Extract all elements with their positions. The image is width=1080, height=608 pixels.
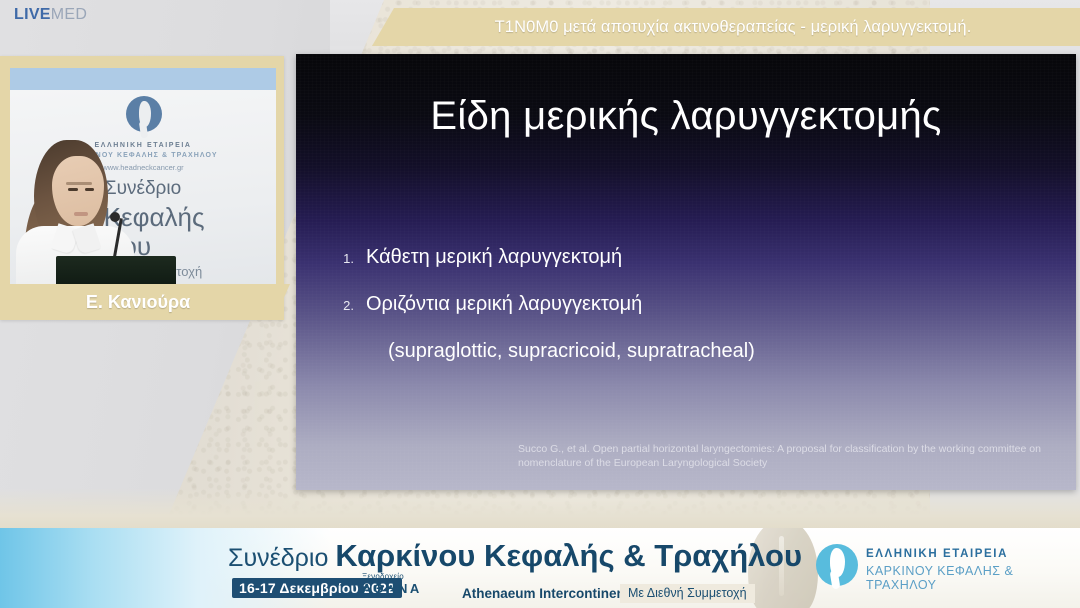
- society-name-line1: ΕΛΛΗΝΙΚΗ ΕΤΑΙΡΕΙΑ: [866, 548, 1008, 560]
- background-bottom-fill: [0, 488, 1080, 528]
- speaker-video-feed[interactable]: ΕΛΛΗΝΙΚΗ ΕΤΑΙΡΕΙΑ ΚΑΡΚΙΝΟΥ ΚΕΦΑΛΗΣ & ΤΡΑ…: [10, 68, 276, 284]
- bullet-text: Οριζόντια μερική λαρυγγεκτομή: [366, 293, 642, 316]
- conference-international-badge: Με Διεθνή Συμμετοχή: [620, 584, 755, 603]
- video-player-stage: LIVEMED T1N0M0 μετά αποτυχία ακτινοθεραπ…: [0, 0, 1080, 608]
- backdrop-blue-bar: [10, 68, 276, 90]
- conference-hotel-label: Ξενοδοχείο: [362, 572, 422, 581]
- conference-title-prefix: Συνέδριο: [228, 544, 335, 572]
- backdrop-society-logo-icon: [120, 96, 166, 140]
- society-logo-icon: [812, 540, 858, 586]
- livemed-logo-med: MED: [51, 6, 87, 23]
- speaker-name-banner: Ε. Κανιούρα: [0, 284, 290, 320]
- conference-hotel: Ξενοδοχείο ΑΘΗΝΑ: [362, 572, 422, 596]
- society-name-line2: ΚΑΡΚΙΝΟΥ ΚΕΦΑΛΗΣ & ΤΡΑΧΗΛΟΥ: [866, 564, 1080, 592]
- conference-hotel-city: ΑΘΗΝΑ: [362, 581, 422, 596]
- slide-title: Είδη μερικής λαρυγγεκτομής: [296, 94, 1076, 139]
- livemed-logo-live: LIVE: [14, 6, 51, 23]
- presentation-slide[interactable]: Είδη μερικής λαρυγγεκτομής 1. Κάθετη μερ…: [296, 54, 1076, 490]
- slide-bullet-item: 1. Κάθετη μερική λαρυγγεκτομή: [330, 246, 1030, 269]
- bullet-text: Κάθετη μερική λαρυγγεκτομή: [366, 246, 622, 269]
- bullet-number: 2.: [330, 298, 366, 313]
- slide-bullet-item: 2. Οριζόντια μερική λαρυγγεκτομή: [330, 293, 1030, 316]
- conference-title: Συνέδριο Καρκίνου Κεφαλής & Τραχήλου: [228, 538, 802, 574]
- bullet-number: 1.: [330, 251, 366, 266]
- talk-title-banner: T1N0M0 μετά αποτυχία ακτινοθεραπείας - μ…: [372, 8, 1080, 46]
- livemed-logo[interactable]: LIVEMED: [14, 6, 87, 24]
- slide-subtext: (supraglottic, supracricoid, supratrache…: [388, 340, 1030, 363]
- conference-venue: Athenaeum Intercontinental: [462, 586, 641, 601]
- slide-bullet-list: 1. Κάθετη μερική λαρυγγεκτομή 2. Οριζόντ…: [330, 246, 1030, 363]
- podium-laptop: [56, 256, 176, 284]
- speaker-video-frame[interactable]: ΕΛΛΗΝΙΚΗ ΕΤΑΙΡΕΙΑ ΚΑΡΚΙΝΟΥ ΚΕΦΑΛΗΣ & ΤΡΑ…: [0, 56, 284, 320]
- slide-citation: Succo G., et al. Open partial horizontal…: [518, 442, 1058, 470]
- talk-title-text: T1N0M0 μετά αποτυχία ακτινοθεραπείας - μ…: [481, 18, 972, 37]
- conference-title-main: Καρκίνου Κεφαλής & Τραχήλου: [335, 538, 802, 573]
- speaker-name: Ε. Κανιούρα: [86, 292, 190, 313]
